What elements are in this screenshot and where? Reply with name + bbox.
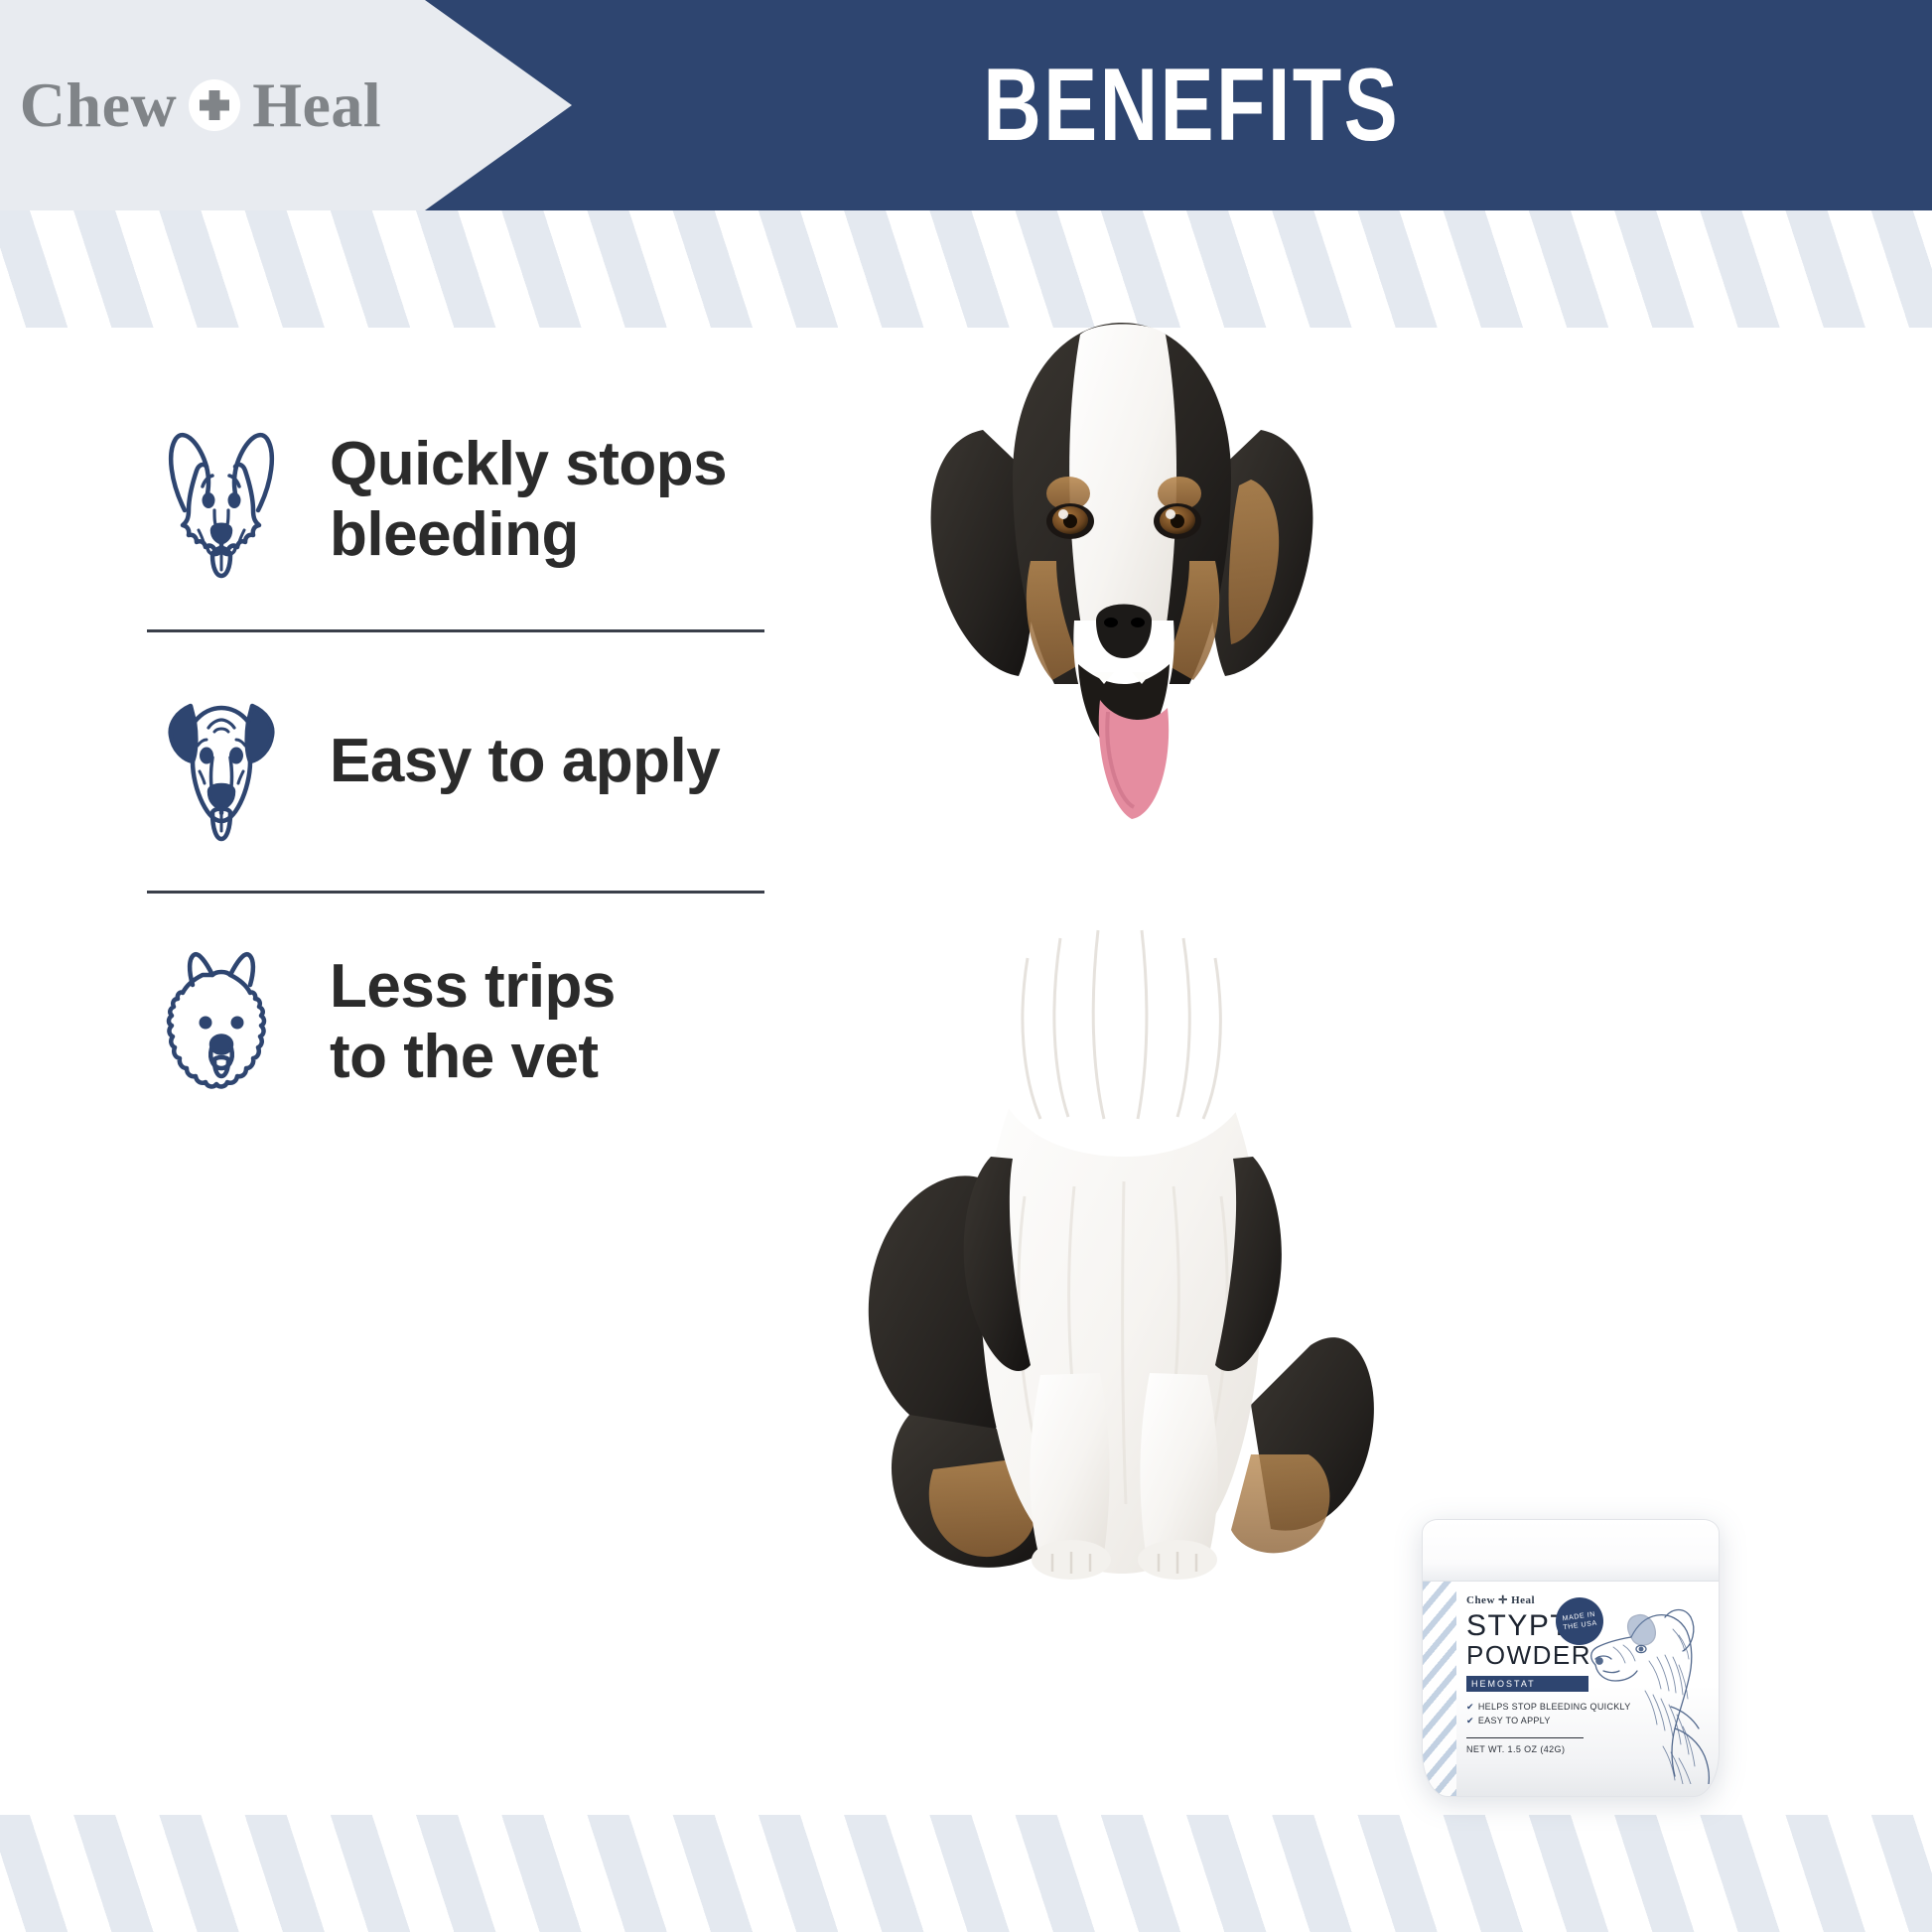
benefit-label-1-line2: bleeding [330, 500, 727, 571]
jar-bullet-list: ✔ HELPS STOP BLEEDING QUICKLY ✔ EASY TO … [1466, 1700, 1709, 1728]
jar-bullet-2-text: EASY TO APPLY [1478, 1714, 1551, 1727]
terrier-dog-face-icon [147, 681, 296, 842]
benefit-item-3: Less trips to the vet [147, 919, 782, 1126]
brand-wordmark: Chew Heal [20, 69, 381, 142]
benefit-item-2: Easy to apply [147, 658, 782, 865]
benefit-item-1: Quickly stops bleeding [147, 397, 782, 604]
jar-product-name-line2: POWDER [1466, 1642, 1709, 1669]
bottom-stripe-band [0, 1815, 1932, 1932]
benefit-label-1: Quickly stops bleeding [330, 430, 727, 570]
jar-body: Chew ✛ Heal STYPTIC POWDER HEMOSTAT ✔ HE… [1422, 1519, 1720, 1797]
product-jar: Chew ✛ Heal STYPTIC POWDER HEMOSTAT ✔ HE… [1422, 1519, 1720, 1797]
benefit-label-2: Easy to apply [330, 727, 720, 797]
benefit-label-1-line1: Quickly stops [330, 430, 727, 500]
jar-stripe-accent [1423, 1582, 1456, 1797]
plus-icon: ✛ [1498, 1594, 1508, 1606]
jar-lid [1423, 1520, 1719, 1582]
diagonal-stripes-pattern [0, 1815, 1932, 1932]
brand-logo-plate: Chew Heal [0, 0, 425, 210]
jar-brand-heal: Heal [1511, 1594, 1535, 1606]
brand-word-chew: Chew [20, 69, 177, 142]
benefit-label-2-line1: Easy to apply [330, 727, 720, 797]
brand-word-heal: Heal [252, 69, 381, 142]
benefits-list: Quickly stops bleeding [147, 397, 782, 1126]
check-icon: ✔ [1466, 1700, 1474, 1714]
check-icon: ✔ [1466, 1714, 1474, 1727]
page-title-text: BENEFITS [983, 47, 1400, 165]
benefit-separator-2 [147, 891, 764, 894]
jar-bullet-2: ✔ EASY TO APPLY [1466, 1714, 1709, 1727]
logo-chevron-shape [425, 0, 572, 210]
benefit-label-3-line2: to the vet [330, 1023, 616, 1093]
benefit-label-3: Less trips to the vet [330, 952, 616, 1092]
jar-divider-rule [1466, 1737, 1584, 1739]
page-header: Chew Heal BENEFITS [0, 0, 1932, 210]
jar-net-weight: NET WT. 1.5 OZ (42G) [1466, 1744, 1709, 1754]
page-title: BENEFITS [572, 0, 1932, 210]
corgi-dog-face-icon [147, 420, 296, 581]
australian-shepherd-dog-photo [814, 263, 1430, 1584]
jar-bullet-1: ✔ HELPS STOP BLEEDING QUICKLY [1466, 1700, 1709, 1714]
benefits-poster: Chew Heal BENEFITS [0, 0, 1932, 1932]
jar-category-badge: HEMOSTAT [1466, 1676, 1588, 1692]
jar-brand-chew: Chew [1466, 1594, 1495, 1606]
benefit-label-3-line1: Less trips [330, 952, 616, 1023]
jar-bullet-1-text: HELPS STOP BLEEDING QUICKLY [1478, 1700, 1631, 1714]
benefit-separator-1 [147, 629, 764, 632]
samoyed-dog-face-icon [147, 942, 296, 1103]
plus-in-circle-icon [189, 79, 240, 131]
